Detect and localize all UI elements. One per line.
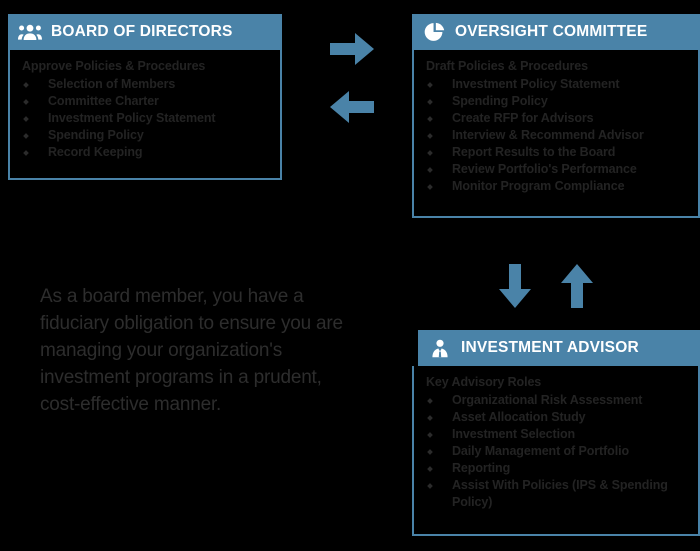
panel-title-investment-advisor: INVESTMENT ADVISOR bbox=[461, 340, 639, 356]
body-heading-board-of-directors: Approve Policies & Procedures bbox=[22, 58, 270, 75]
list-item: Investment Policy Statement bbox=[22, 110, 270, 127]
list-item: Spending Policy bbox=[22, 127, 270, 144]
arrow-oversight-to-advisor-icon bbox=[496, 262, 534, 315]
body-heading-investment-advisor: Key Advisory Roles bbox=[426, 374, 688, 391]
list-item: Create RFP for Advisors bbox=[426, 110, 688, 127]
businessman-icon bbox=[428, 336, 452, 360]
list-item: Record Keeping bbox=[22, 144, 270, 161]
panel-header-board-of-directors: BOARD OF DIRECTORS bbox=[8, 14, 282, 50]
panel-header-oversight-committee: OVERSIGHT COMMITTEE bbox=[412, 14, 700, 50]
panel-header-investment-advisor: INVESTMENT ADVISOR bbox=[418, 330, 700, 366]
intro-paragraph: As a board member, you have a fiduciary … bbox=[40, 284, 350, 419]
panel-body-board-of-directors: Approve Policies & Procedures Selection … bbox=[8, 50, 282, 180]
pie-chart-icon bbox=[422, 20, 446, 44]
panel-title-board-of-directors: BOARD OF DIRECTORS bbox=[51, 24, 233, 40]
list-item: Review Portfolio's Performance bbox=[426, 161, 688, 178]
list-item: Daily Management of Portfolio bbox=[426, 443, 688, 460]
panel-body-investment-advisor: Key Advisory Roles Organizational Risk A… bbox=[412, 366, 700, 536]
list-oversight-committee: Investment Policy Statement Spending Pol… bbox=[426, 76, 688, 195]
arrow-oversight-to-board-icon bbox=[328, 88, 376, 131]
panel-oversight-committee: OVERSIGHT COMMITTEE Draft Policies & Pro… bbox=[412, 14, 700, 218]
list-item: Interview & Recommend Advisor bbox=[426, 127, 688, 144]
list-item: Selection of Members bbox=[22, 76, 270, 93]
list-item: Organizational Risk Assessment bbox=[426, 392, 688, 409]
arrow-board-to-oversight-icon bbox=[328, 30, 376, 73]
list-item: Spending Policy bbox=[426, 93, 688, 110]
panel-board-of-directors: BOARD OF DIRECTORS Approve Policies & Pr… bbox=[8, 14, 282, 180]
list-item: Monitor Program Compliance bbox=[426, 178, 688, 195]
panel-body-oversight-committee: Draft Policies & Procedures Investment P… bbox=[412, 50, 700, 218]
panel-investment-advisor: INVESTMENT ADVISOR Key Advisory Roles Or… bbox=[412, 330, 700, 536]
panel-title-oversight-committee: OVERSIGHT COMMITTEE bbox=[455, 24, 647, 40]
body-heading-oversight-committee: Draft Policies & Procedures bbox=[426, 58, 688, 75]
list-item: Reporting bbox=[426, 460, 688, 477]
list-item: Investment Selection bbox=[426, 426, 688, 443]
list-item: Report Results to the Board bbox=[426, 144, 688, 161]
list-item: Assist With Policies (IPS & Spending Pol… bbox=[426, 477, 688, 511]
list-investment-advisor: Organizational Risk Assessment Asset All… bbox=[426, 392, 688, 511]
diagram-canvas: BOARD OF DIRECTORS Approve Policies & Pr… bbox=[0, 0, 700, 551]
list-item: Investment Policy Statement bbox=[426, 76, 688, 93]
list-item: Asset Allocation Study bbox=[426, 409, 688, 426]
list-board-of-directors: Selection of Members Committee Charter I… bbox=[22, 76, 270, 161]
group-of-people-icon bbox=[18, 20, 42, 44]
list-item: Committee Charter bbox=[22, 93, 270, 110]
arrow-advisor-to-oversight-icon bbox=[558, 262, 596, 315]
